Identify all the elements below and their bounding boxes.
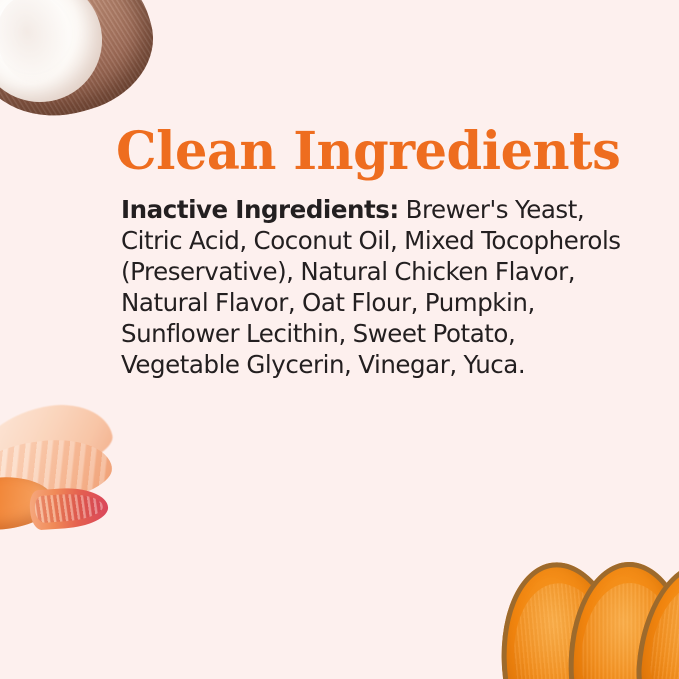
- sweet-potato-slice: [632, 558, 679, 679]
- sweet-potato-slice: [490, 555, 637, 679]
- page-title: Clean Ingredients: [116, 124, 577, 180]
- shrimp-tail-fan-shape: [29, 485, 110, 530]
- coconut-flesh-shape: [0, 0, 117, 117]
- ingredients-paragraph: Inactive Ingredients: Brewer's Yeast, Ci…: [121, 194, 626, 380]
- coconut-photo: [0, 0, 152, 114]
- sweet-potato-photo: [498, 530, 679, 679]
- shrimp-body-shape: [0, 432, 116, 514]
- inactive-ingredients-label: Inactive Ingredients:: [121, 195, 399, 224]
- clean-ingredients-card: Clean Ingredients Inactive Ingredients: …: [0, 0, 679, 679]
- shrimp-photo: [0, 404, 130, 552]
- shrimp-upper-body-shape: [0, 394, 117, 488]
- sweet-potato-slice: [565, 560, 679, 679]
- shrimp-head-shape: [0, 472, 56, 536]
- coconut-husk-shape: [0, 0, 169, 136]
